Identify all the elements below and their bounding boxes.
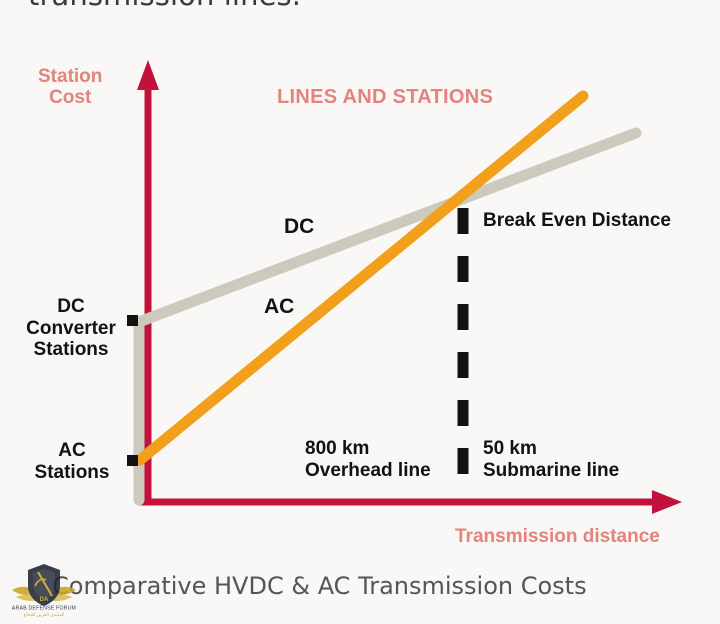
tick-mark-dc-converter-stations — [127, 315, 138, 326]
watermark-monogram: DA — [40, 597, 49, 603]
chart-title: LINES AND STATIONS — [277, 87, 493, 109]
submarine-line2: Submarine line — [483, 460, 619, 481]
chart-page: transmission lines. — [0, 0, 720, 624]
annotation-break-even-distance: Break Even Distance — [483, 211, 671, 232]
figure-caption: Comparative HVDC & AC Transmission Costs — [52, 572, 587, 600]
ac-tick-line2: Stations — [35, 462, 110, 483]
x-axis-title: Transmission distance — [455, 527, 660, 548]
y-axis-title-line1: Station — [38, 66, 102, 87]
chart-plot-area: Station Cost Transmission distance LINES… — [0, 0, 720, 560]
series-label-ac: AC — [264, 296, 294, 319]
tick-mark-ac-stations — [127, 455, 138, 466]
watermark-subtitle: المنتدى العربي للدفاع — [24, 612, 65, 618]
series-ac-line — [140, 96, 583, 460]
y-axis-title-line2: Cost — [49, 87, 91, 108]
annotation-overhead-line: 800 km Overhead line — [305, 438, 431, 483]
dc-tick-line3: Stations — [34, 339, 109, 360]
submarine-line1: 50 km — [483, 438, 537, 459]
series-label-dc: DC — [284, 216, 314, 239]
watermark-title: ARAB DEFENSE FORUM — [12, 606, 76, 612]
x-axis — [138, 490, 682, 514]
overhead-line2: Overhead line — [305, 460, 431, 481]
dc-tick-line2: Converter — [26, 318, 116, 339]
watermark-logo-icon: DA ARAB DEFENSE FORUM المنتدى العربي للد… — [8, 556, 80, 618]
y-tick-label-ac-stations: AC Stations — [20, 440, 124, 483]
y-axis-title: Station Cost — [38, 66, 102, 109]
y-tick-label-dc-converter-stations: DC Converter Stations — [14, 296, 128, 361]
dc-tick-line1: DC — [57, 296, 84, 317]
overhead-line1: 800 km — [305, 438, 369, 459]
annotation-submarine-line: 50 km Submarine line — [483, 438, 619, 483]
ac-tick-line1: AC — [58, 440, 85, 461]
